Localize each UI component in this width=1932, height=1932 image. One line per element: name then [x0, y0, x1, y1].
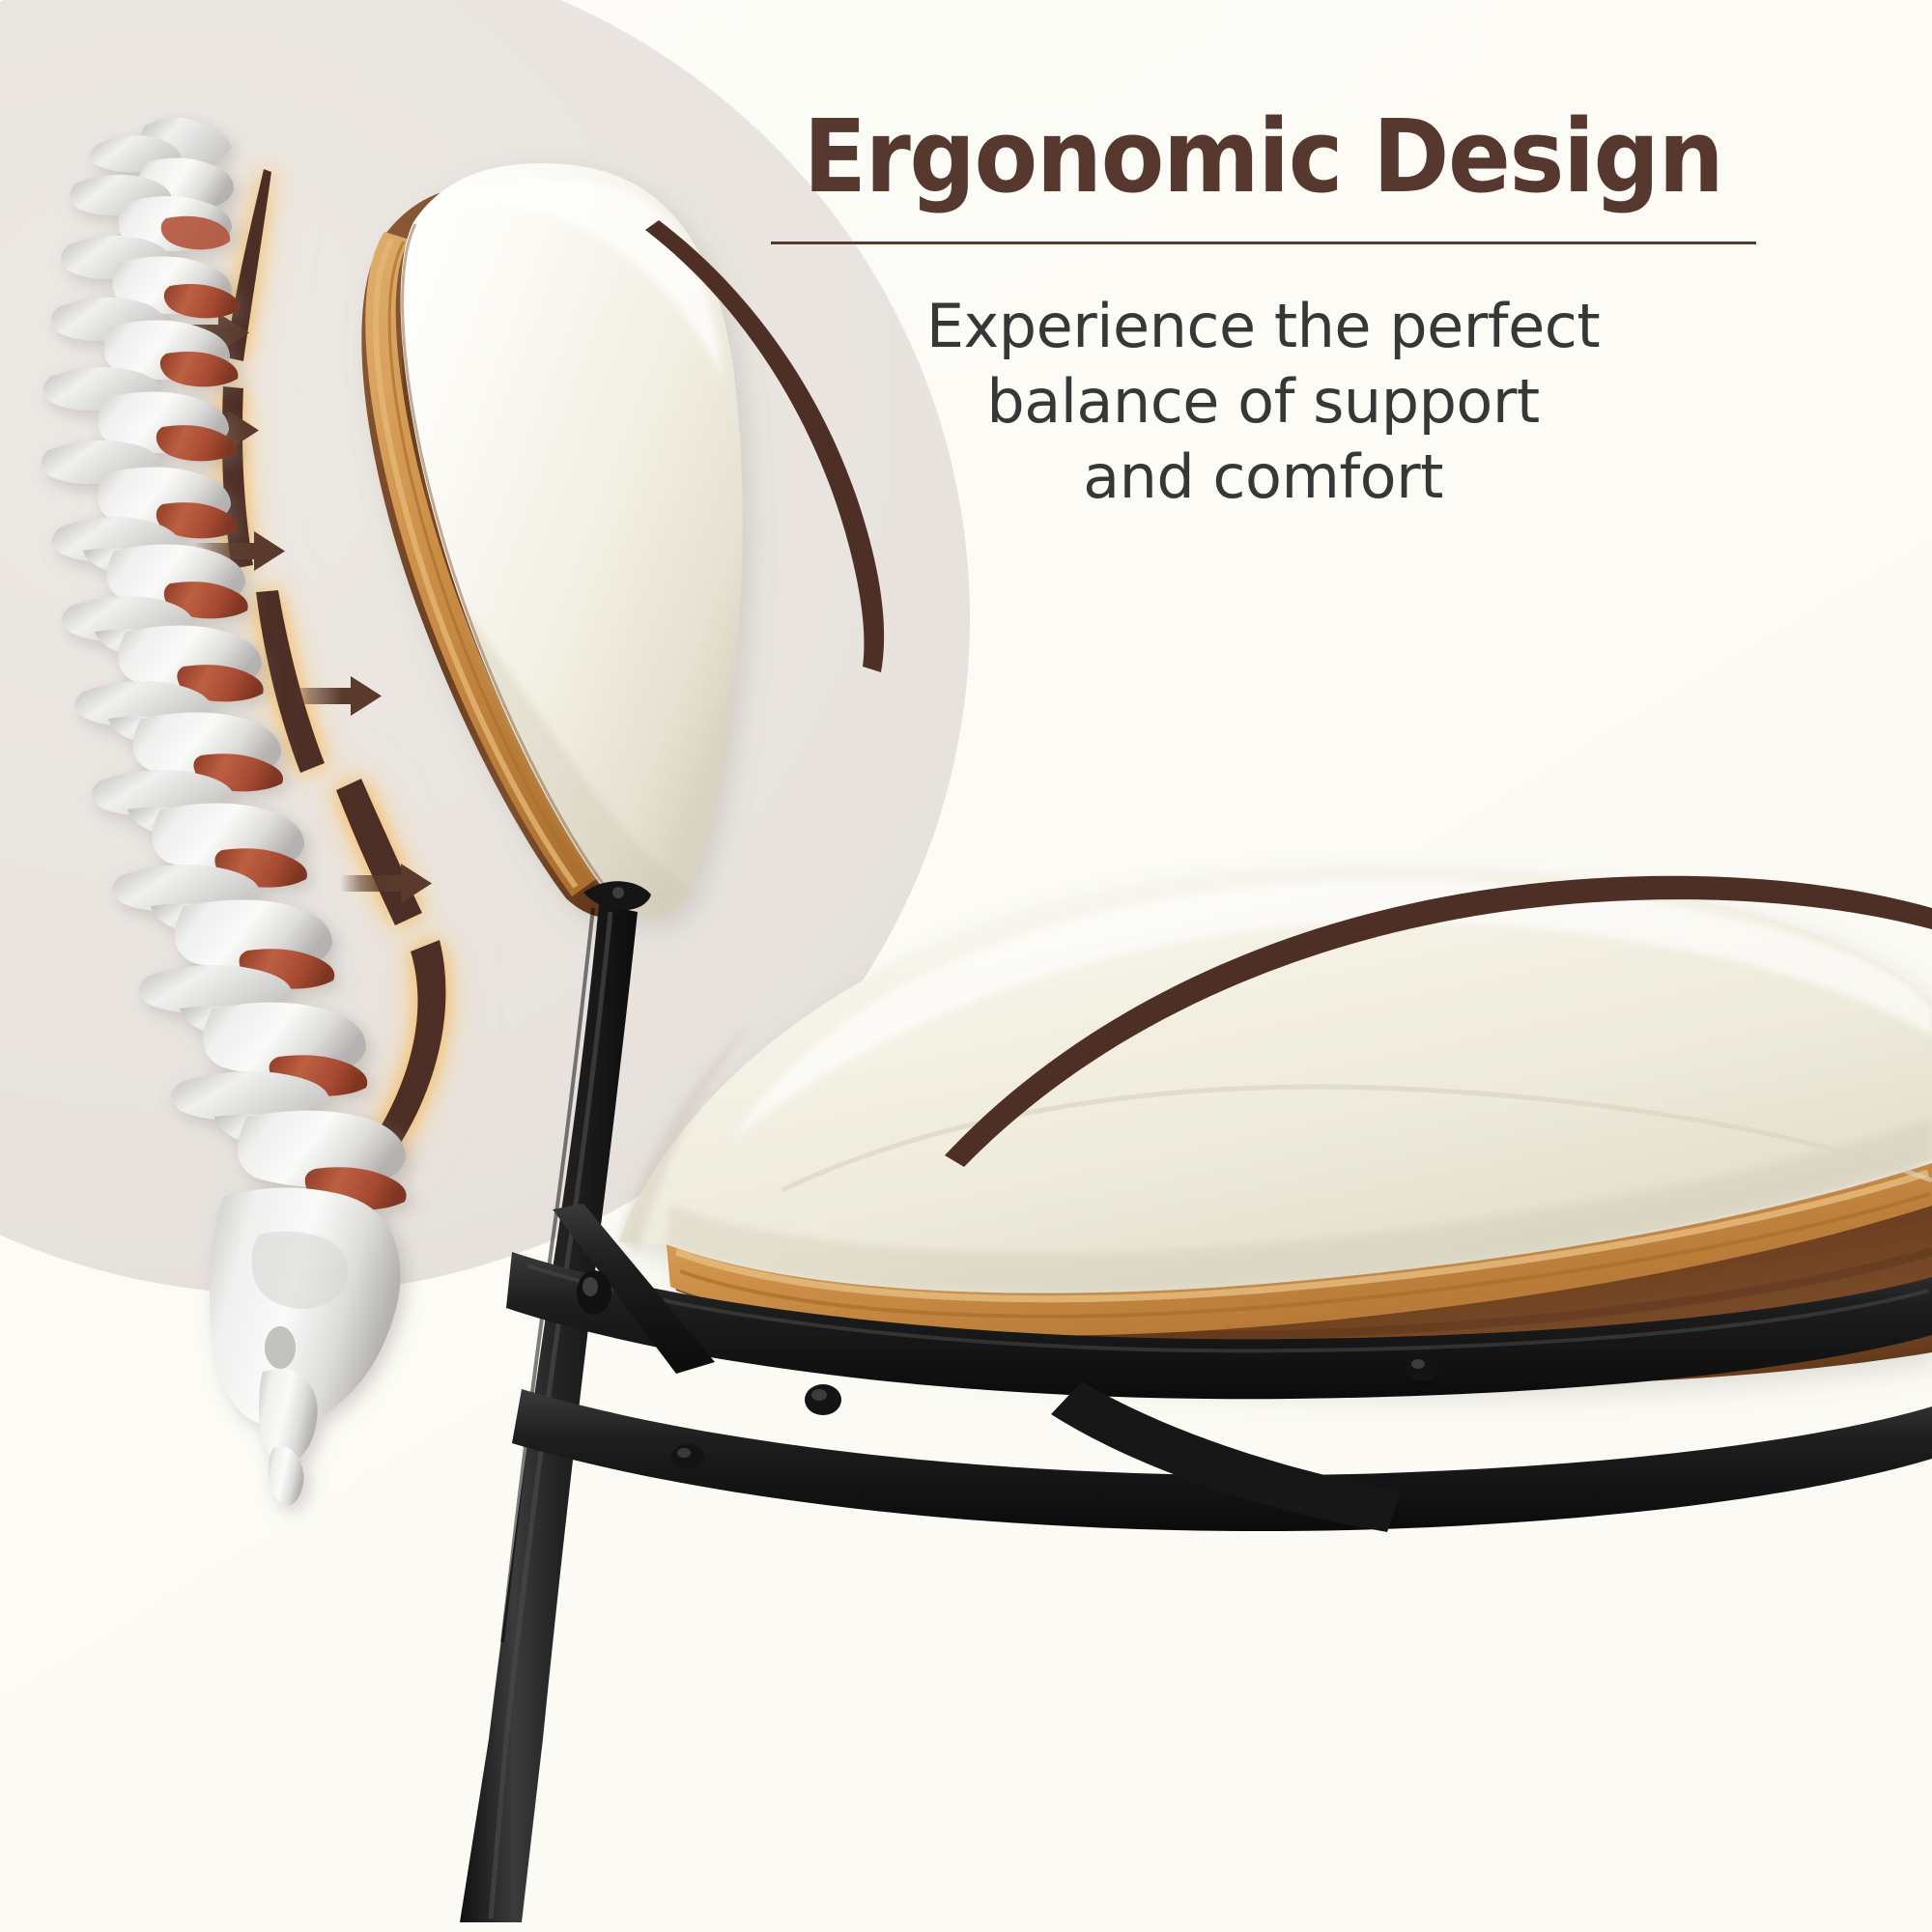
promo-canvas: Ergonomic Design Experience the perfect … [0, 0, 1932, 1932]
header-block: Ergonomic Design Experience the perfect … [710, 106, 1816, 515]
page-title: Ergonomic Design [754, 106, 1772, 207]
subtitle-line-1: Experience the perfect [710, 289, 1816, 364]
subtitle-line-3: and comfort [710, 440, 1816, 515]
seat-contour-arc [945, 876, 1932, 1167]
page-subtitle: Experience the perfect balance of suppor… [710, 289, 1816, 515]
subtitle-line-2: balance of support [710, 364, 1816, 440]
title-divider [771, 241, 1756, 244]
